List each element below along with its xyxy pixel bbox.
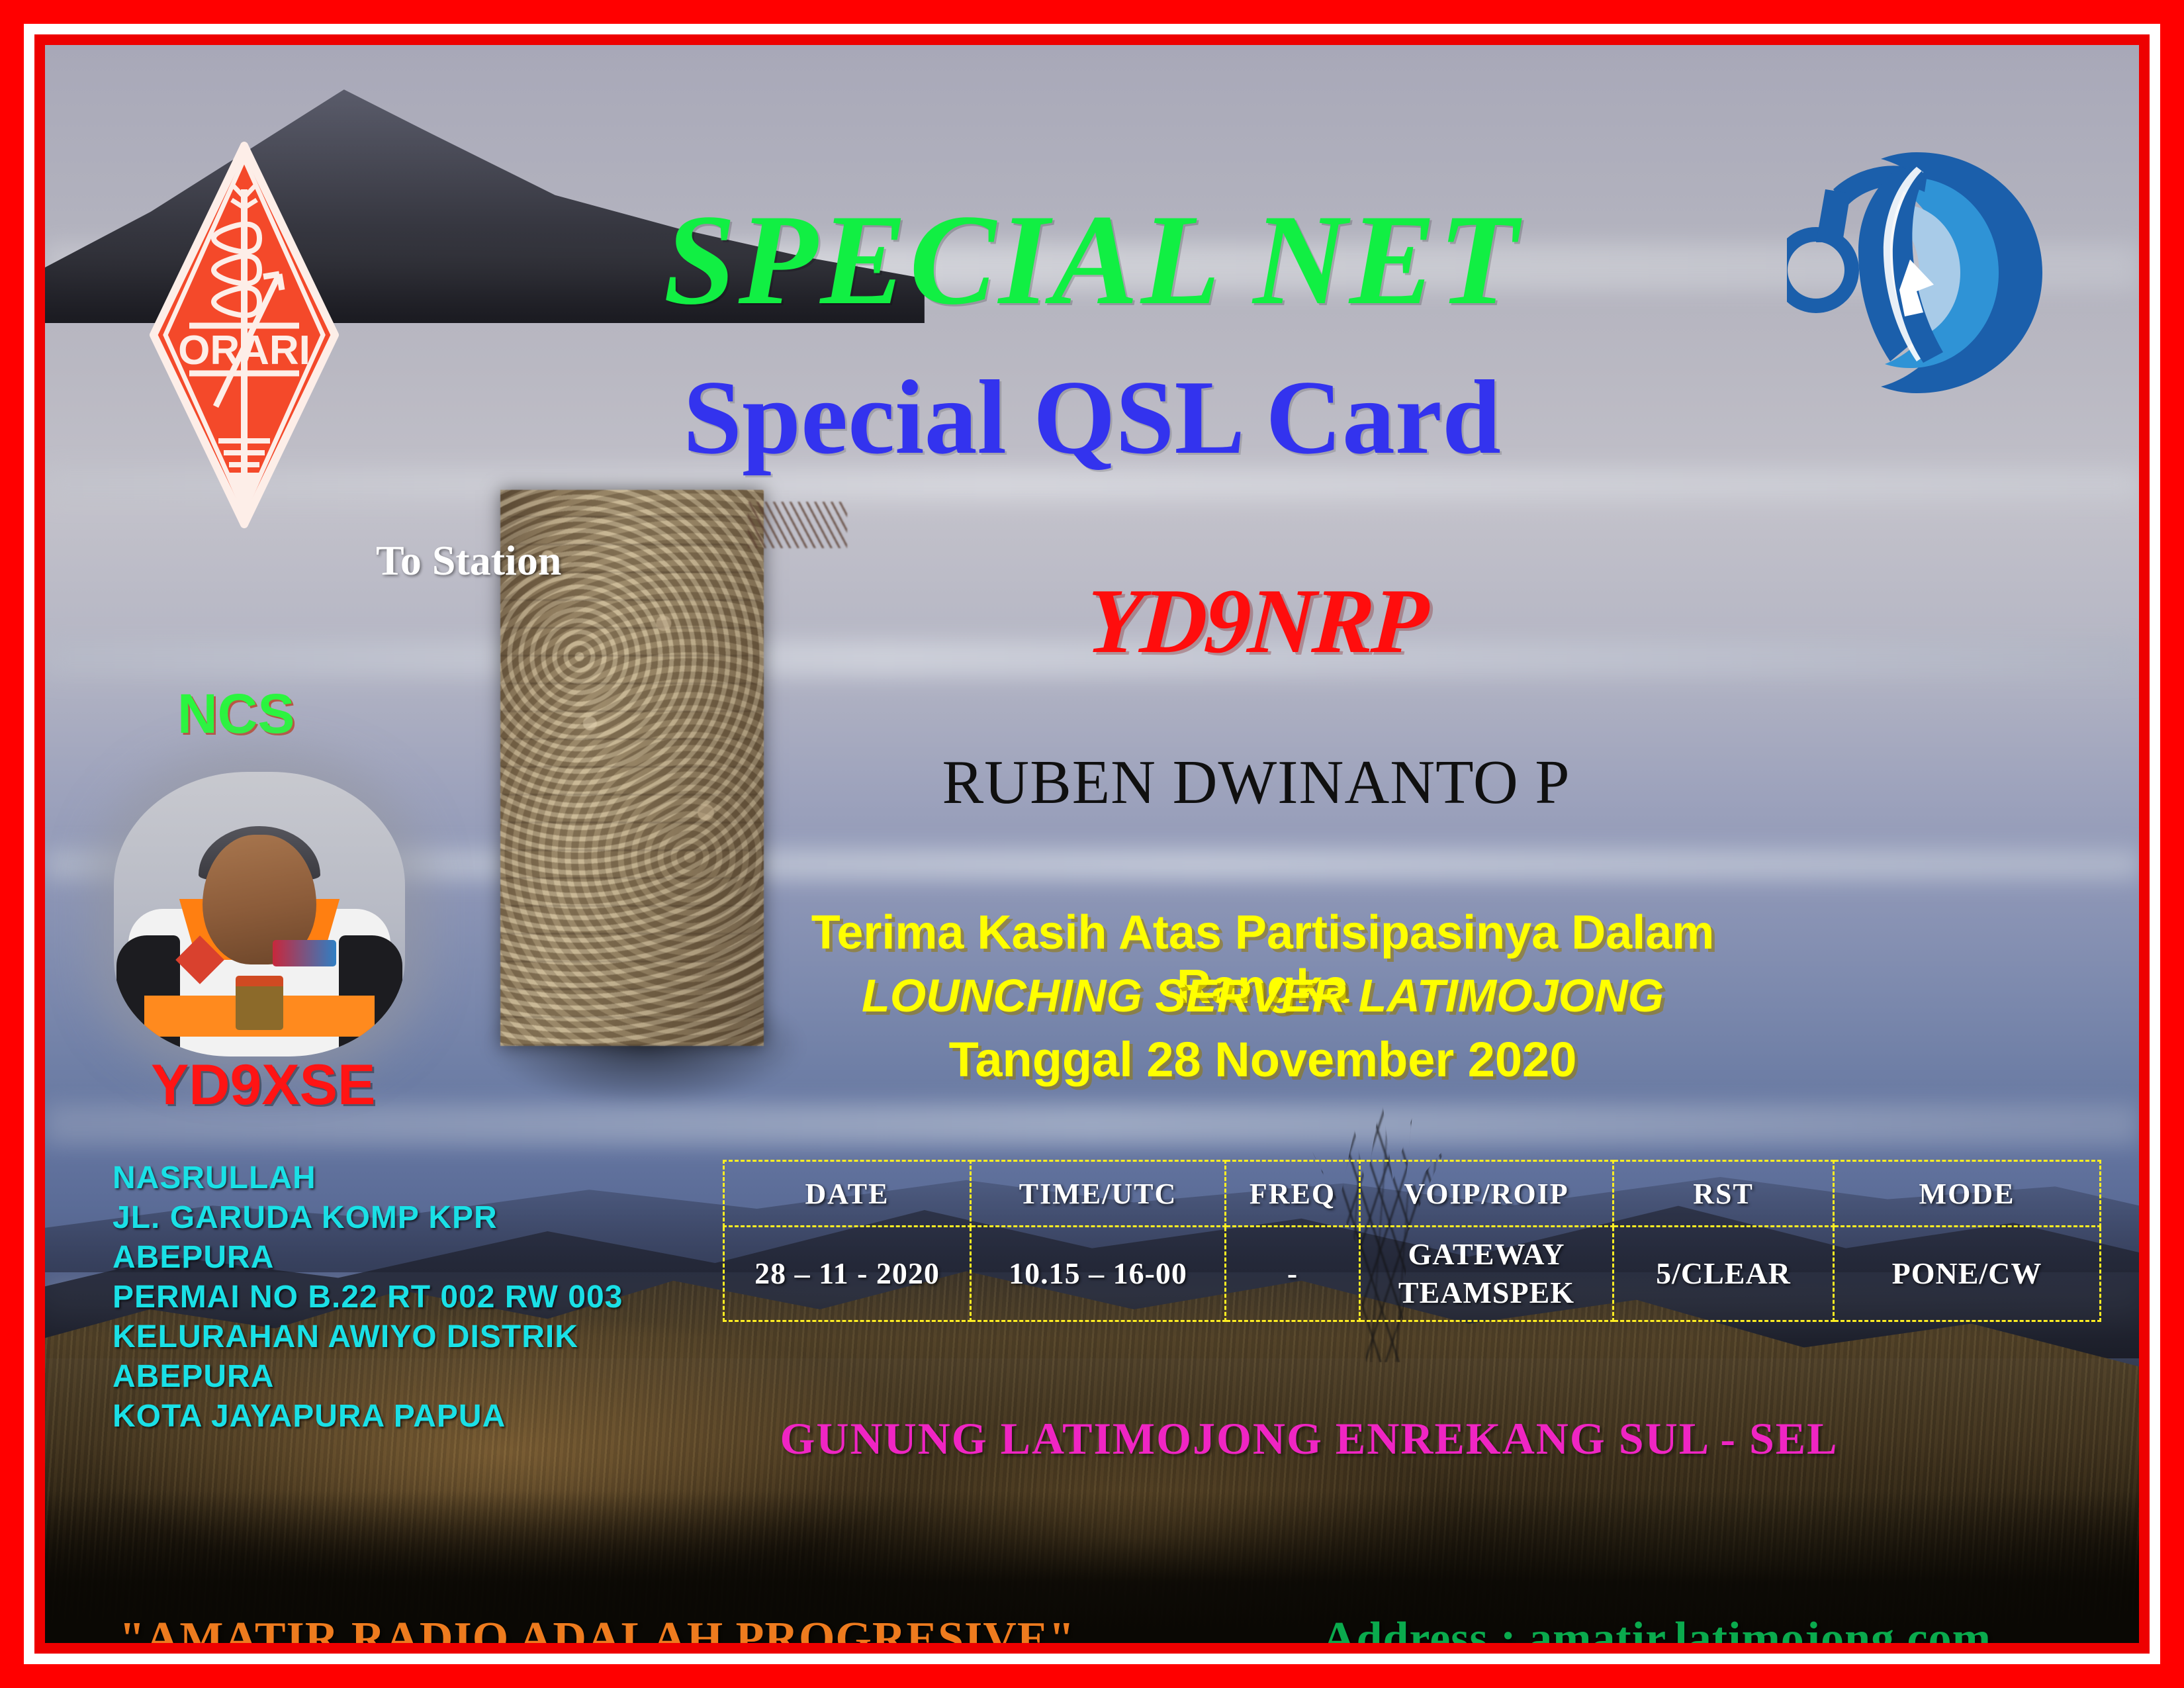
to-station-label: To Station	[376, 536, 561, 585]
table-header-date: DATE	[724, 1161, 971, 1227]
address-line: PERMAI NO B.22 RT 002 RW 003	[113, 1278, 623, 1317]
qso-log-table: DATE TIME/UTC FREQ VOIP/ROIP RST MODE 28…	[723, 1160, 2101, 1322]
cell-freq: -	[1226, 1227, 1360, 1321]
photo-shirt-logo	[273, 940, 336, 966]
cell-voip-roip: GATEWAY TEAMSPEK	[1360, 1227, 1614, 1321]
address-line: JL. GARUDA KOMP KPR	[113, 1198, 623, 1238]
page-title-sub: Special QSL Card	[45, 356, 2139, 479]
footer-slogan: "AMATIR RADIO ADALAH PROGRESIVE"	[119, 1613, 1075, 1643]
address-line: KOTA JAYAPURA PAPUA	[113, 1397, 623, 1436]
table-header-rst: RST	[1614, 1161, 1834, 1227]
address-line: KELURAHAN AWIYO DISTRIK	[113, 1317, 623, 1357]
cell-voip-roip-line1: GATEWAY	[1361, 1235, 1612, 1274]
address-block: NASRULLAH JL. GARUDA KOMP KPR ABEPURA PE…	[113, 1158, 623, 1436]
card-photo-area: ORARI SPECIAL NET Special QSL Card To St…	[45, 45, 2139, 1643]
card-overlay: ORARI SPECIAL NET Special QSL Card To St…	[45, 45, 2139, 1643]
thanks-line-3: Tanggal 28 November 2020	[786, 1031, 1739, 1088]
table-header-row: DATE TIME/UTC FREQ VOIP/ROIP RST MODE	[724, 1161, 2101, 1227]
ncs-callsign: YD9XSE	[151, 1053, 375, 1118]
address-line: NASRULLAH	[113, 1158, 623, 1198]
table-header-voip-roip: VOIP/ROIP	[1360, 1161, 1614, 1227]
cell-time: 10.15 – 16-00	[971, 1227, 1226, 1321]
ncs-label: NCS	[177, 682, 295, 746]
address-line: ABEPURA	[113, 1238, 623, 1278]
ncs-operator-photo	[114, 772, 405, 1056]
table-header-freq: FREQ	[1226, 1161, 1360, 1227]
qsl-card: ORARI SPECIAL NET Special QSL Card To St…	[0, 0, 2184, 1688]
cell-rst: 5/CLEAR	[1614, 1227, 1834, 1321]
thanks-line-2: LOUNCHING SERVER LATIMOJONG	[786, 969, 1739, 1022]
cell-date: 28 – 11 - 2020	[724, 1227, 971, 1321]
table-row: 28 – 11 - 2020 10.15 – 16-00 - GATEWAY T…	[724, 1227, 2101, 1321]
table-header-time: TIME/UTC	[971, 1161, 1226, 1227]
callsign-text: YD9NRP	[856, 568, 1656, 675]
page-title-main: SPECIAL NET	[45, 185, 2139, 334]
photo-id-card	[236, 976, 283, 1030]
cell-mode: PONE/CW	[1834, 1227, 2101, 1321]
location-text: GUNUNG LATIMOJONG ENREKANG SUL - SEL	[680, 1413, 1938, 1465]
cell-voip-roip-line2: TEAMSPEK	[1361, 1274, 1612, 1312]
address-line: ABEPURA	[113, 1357, 623, 1397]
table-header-mode: MODE	[1834, 1161, 2101, 1227]
footer-web-address: Address : amatir.latimojong.com	[1322, 1613, 1991, 1643]
operator-name: RUBEN DWINANTO P	[786, 747, 1726, 818]
